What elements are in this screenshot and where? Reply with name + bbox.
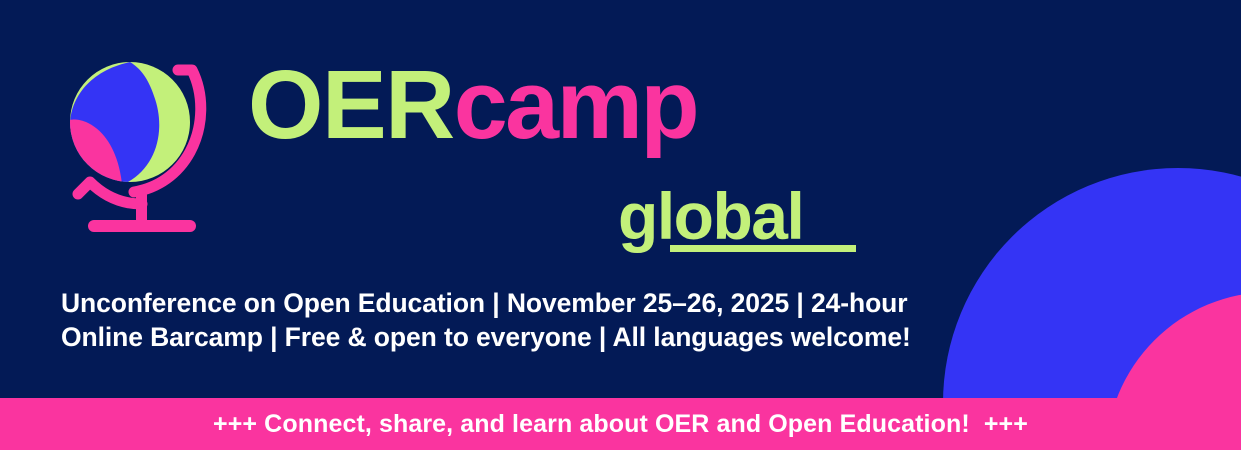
tagline-line-1: Unconference on Open Education | Novembe… (61, 286, 1071, 320)
globe-on-stand-icon (62, 52, 222, 242)
wordmark-global-underline (670, 245, 856, 252)
event-tagline: Unconference on Open Education | Novembe… (61, 286, 1071, 354)
logo-wordmark: OERcamp (248, 56, 697, 153)
wordmark-oer: OER (248, 50, 454, 159)
wordmark-global: global (618, 183, 803, 249)
wordmark-camp: camp (454, 50, 697, 159)
ticker-text: +++ Connect, share, and learn about OER … (213, 410, 1028, 439)
oercamp-global-banner: OERcamp global Unconference on Open Educ… (0, 0, 1241, 450)
ticker-bar: +++ Connect, share, and learn about OER … (0, 398, 1241, 450)
logo-subword-wrap: global (618, 183, 803, 249)
tagline-line-2: Online Barcamp | Free & open to everyone… (61, 320, 1071, 354)
